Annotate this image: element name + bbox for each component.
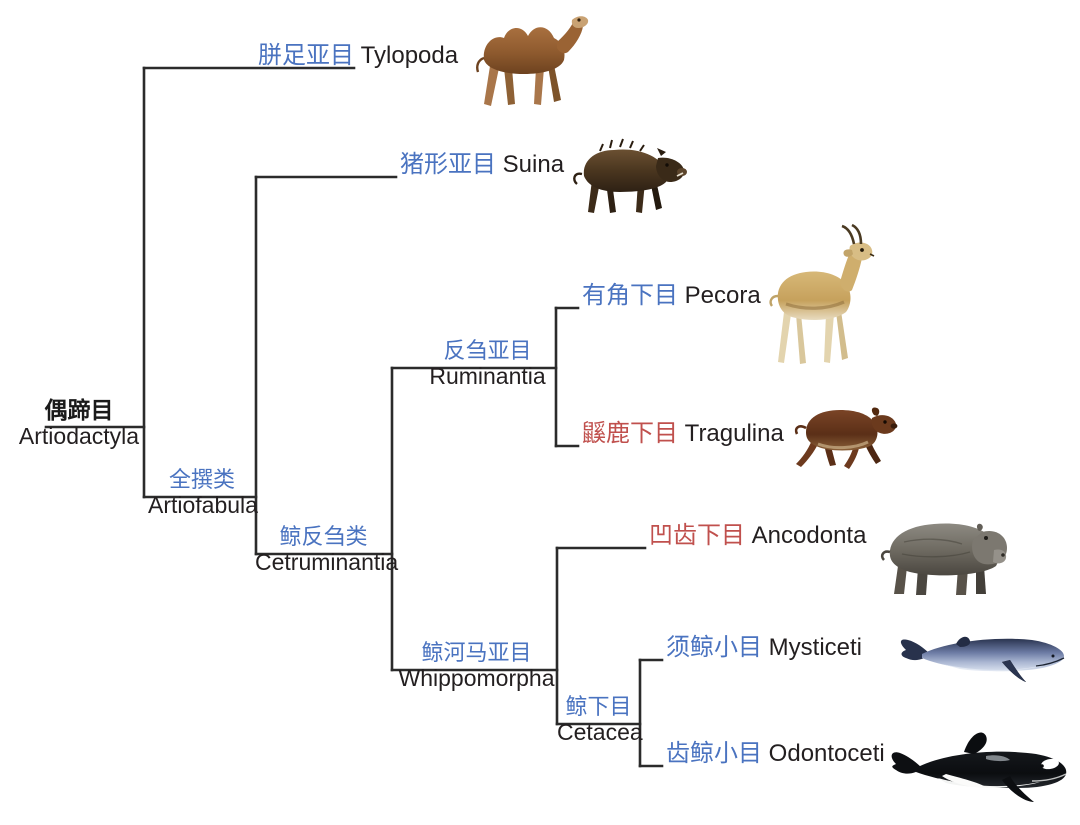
baleen-whale-image — [898, 632, 1066, 690]
leaf-ancodonta-latin: Ancodonta — [752, 522, 867, 549]
node-whippomorpha-cjk: 鲸河马亚目 — [396, 641, 557, 666]
node-artiodactyla-latin: Artiodactyla — [14, 424, 144, 450]
node-ruminantia[interactable]: 反刍亚目 Ruminantia — [419, 339, 556, 389]
leaf-tylopoda-cjk: 胼足亚目 — [258, 42, 361, 69]
leaf-pecora-latin: Pecora — [685, 282, 761, 309]
node-cetruminantia-latin: Cetruminantia — [255, 550, 392, 576]
leaf-mysticeti-latin: Mysticeti — [769, 634, 862, 661]
node-artiofabula[interactable]: 全撰类 Artiofabula — [148, 468, 256, 518]
boar-image — [566, 136, 686, 218]
leaf-tragulina-latin: Tragulina — [685, 420, 784, 447]
leaf-suina-latin: Suina — [503, 151, 564, 178]
camel-image — [462, 8, 590, 113]
node-cetruminantia[interactable]: 鲸反刍类 Cetruminantia — [255, 525, 392, 575]
leaf-ancodonta-cjk: 凹齿下目 — [649, 522, 752, 549]
node-cetacea[interactable]: 鲸下目 Cetacea — [557, 695, 640, 745]
leaf-pecora-cjk: 有角下目 — [582, 282, 685, 309]
leaf-odontoceti-latin: Odontoceti — [769, 740, 885, 767]
hippo-image — [874, 512, 1008, 598]
leaf-tylopoda[interactable]: 胼足亚目 Tylopoda — [258, 44, 458, 68]
node-whippomorpha[interactable]: 鲸河马亚目 Whippomorpha — [396, 641, 557, 691]
node-cetacea-cjk: 鲸下目 — [557, 695, 640, 720]
node-ruminantia-cjk: 反刍亚目 — [419, 339, 556, 364]
leaf-suina-cjk: 猪形亚目 — [400, 151, 503, 178]
node-cetruminantia-cjk: 鲸反刍类 — [255, 525, 392, 550]
leaf-tragulina[interactable]: 鼷鹿下目 Tragulina — [582, 422, 784, 446]
leaf-mysticeti[interactable]: 须鲸小目 Mysticeti — [666, 636, 862, 660]
leaf-tragulina-cjk: 鼷鹿下目 — [582, 420, 685, 447]
chevrotain-image — [788, 402, 898, 472]
leaf-ancodonta[interactable]: 凹齿下目 Ancodonta — [649, 524, 866, 548]
leaf-odontoceti[interactable]: 齿鲸小目 Odontoceti — [666, 742, 885, 766]
tree-branch-lines — [0, 0, 1080, 825]
leaf-pecora[interactable]: 有角下目 Pecora — [582, 284, 761, 308]
orca-image — [890, 730, 1070, 806]
gazelle-image — [762, 238, 878, 370]
leaf-tylopoda-latin: Tylopoda — [361, 42, 458, 69]
node-artiofabula-latin: Artiofabula — [148, 493, 256, 519]
leaf-mysticeti-cjk: 须鲸小目 — [666, 634, 769, 661]
node-ruminantia-latin: Ruminantia — [419, 364, 556, 390]
cladogram-canvas: 偶蹄目 Artiodactyla 全撰类 Artiofabula 鲸反刍类 Ce… — [0, 0, 1080, 825]
node-artiodactyla[interactable]: 偶蹄目 Artiodactyla — [14, 398, 144, 450]
node-artiodactyla-cjk: 偶蹄目 — [14, 398, 144, 424]
leaf-odontoceti-cjk: 齿鲸小目 — [666, 740, 769, 767]
node-artiofabula-cjk: 全撰类 — [148, 468, 256, 493]
node-cetacea-latin: Cetacea — [557, 720, 640, 746]
node-whippomorpha-latin: Whippomorpha — [396, 666, 557, 692]
leaf-suina[interactable]: 猪形亚目 Suina — [400, 153, 564, 177]
